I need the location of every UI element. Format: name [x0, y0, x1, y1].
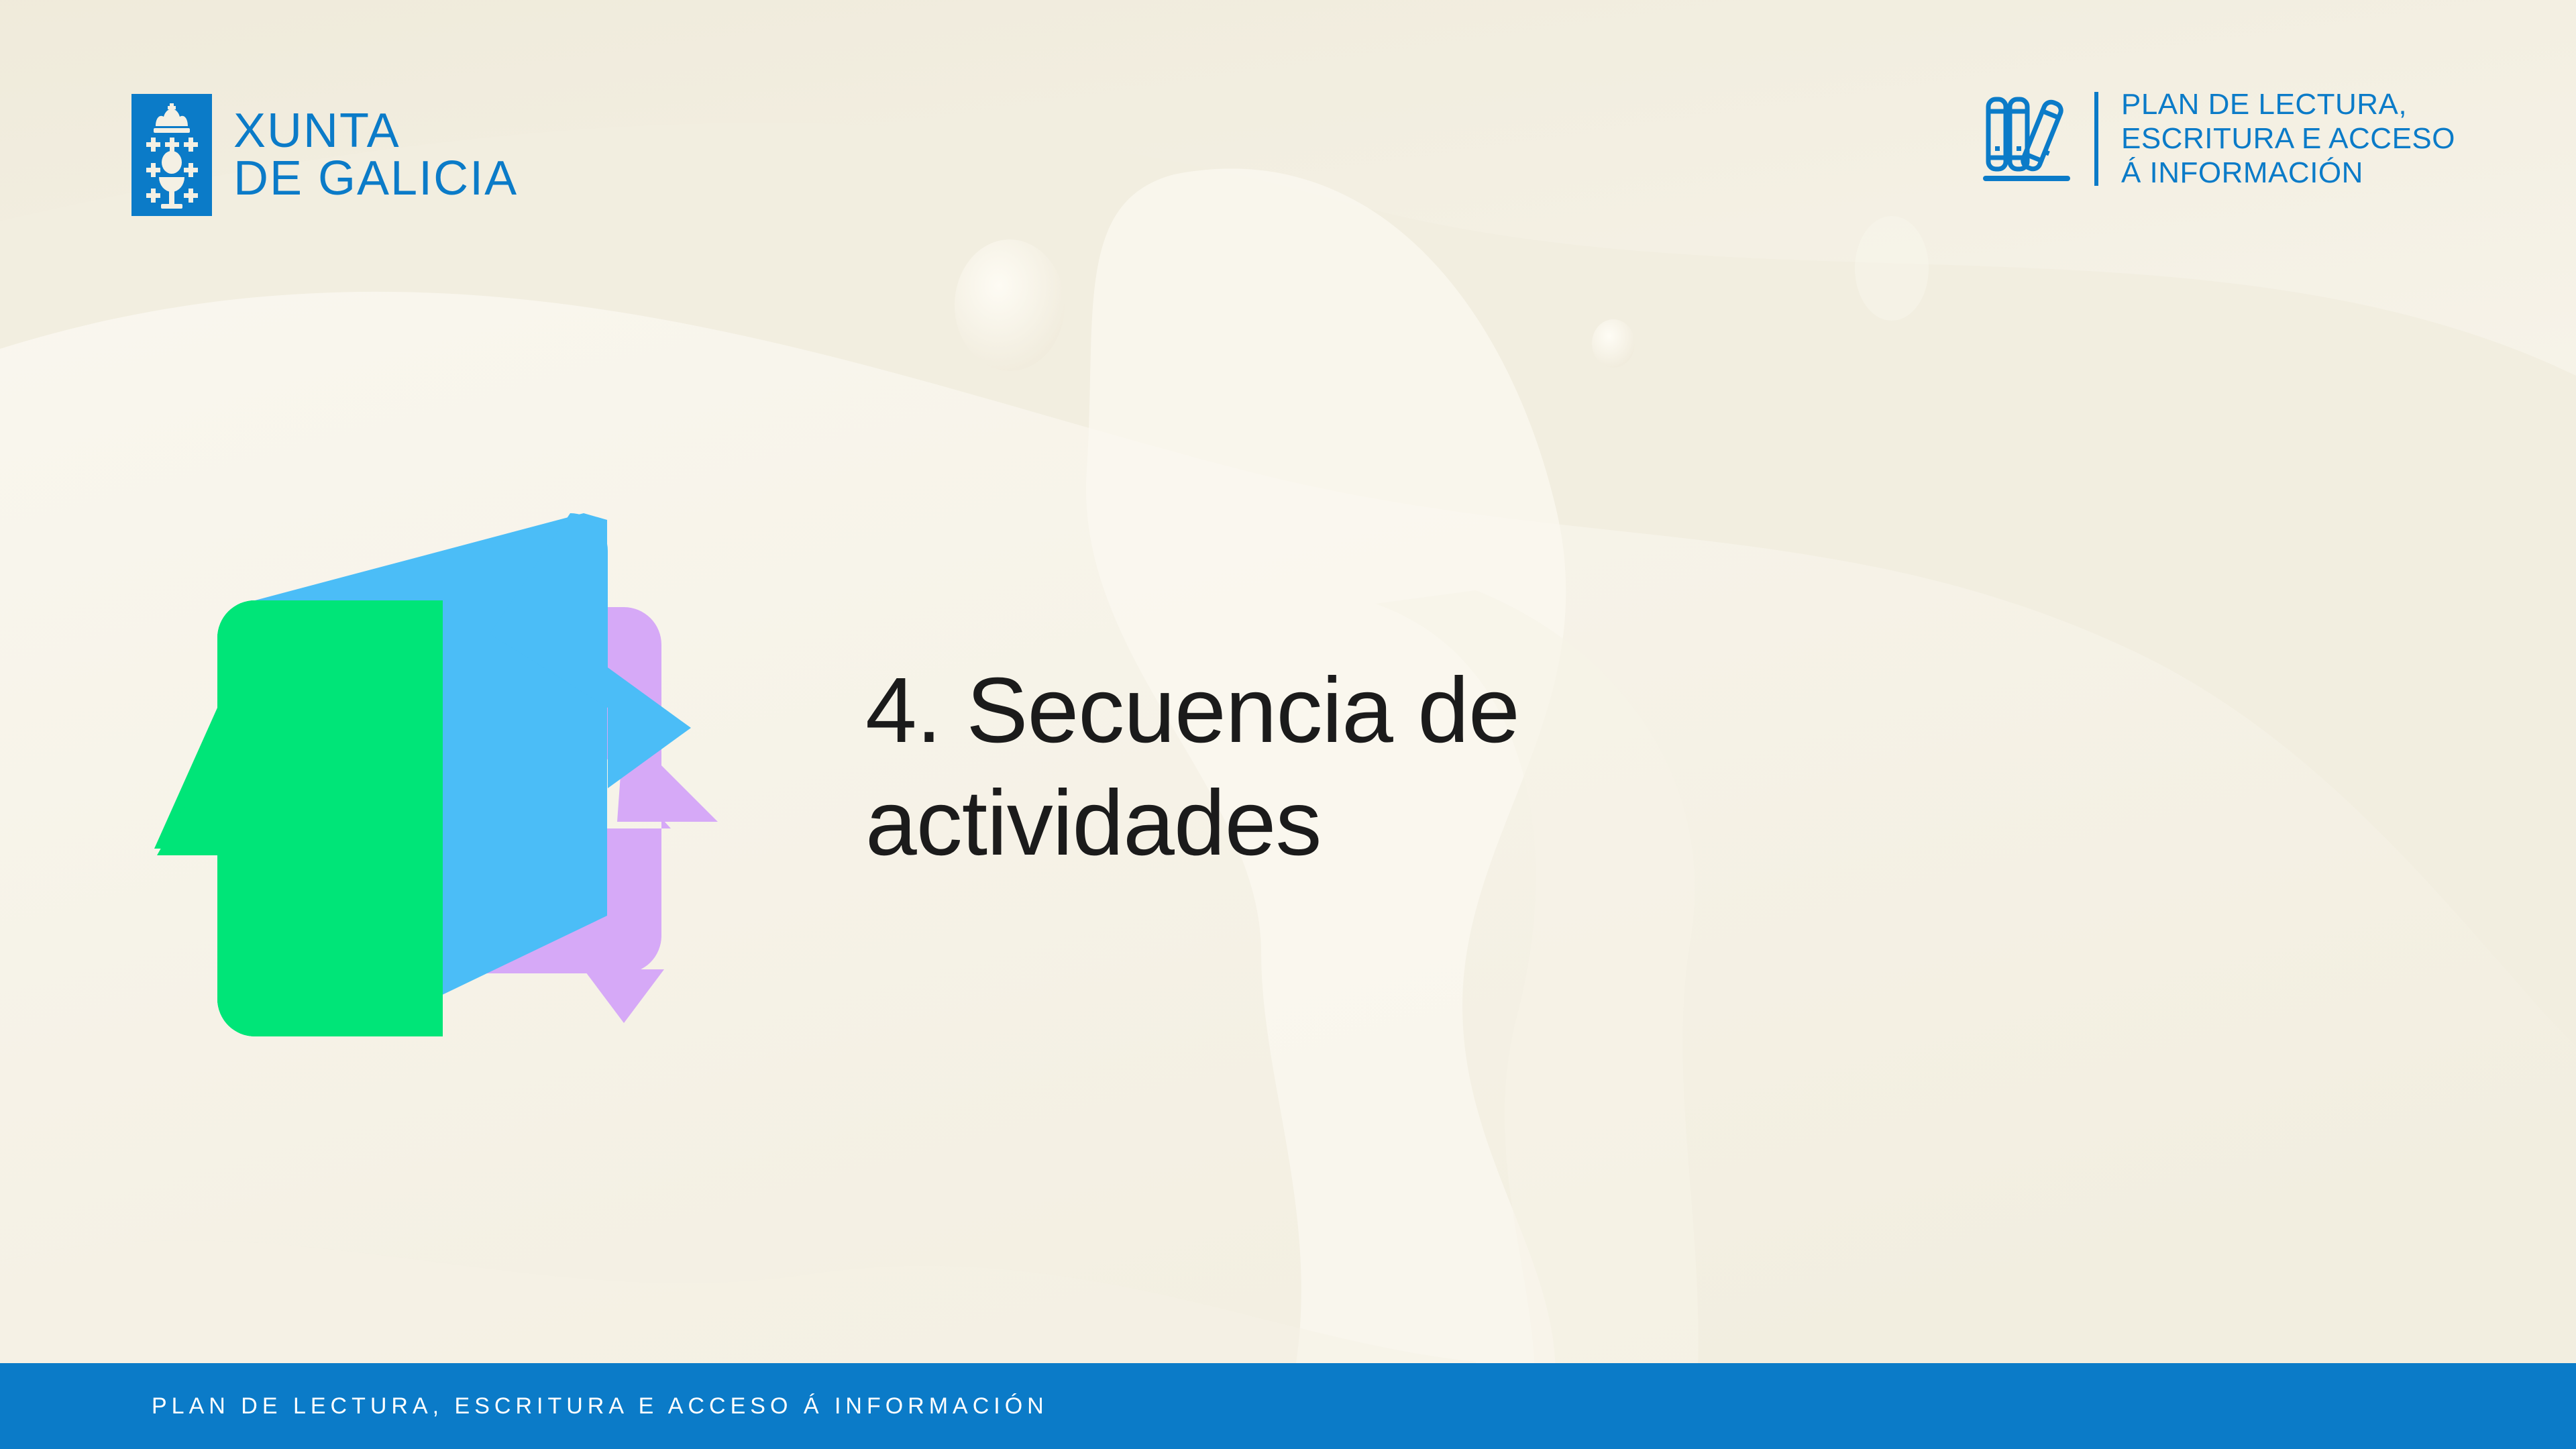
- page-title-line2: actividades: [865, 771, 1321, 875]
- page-title: 4. Secuencia de actividades: [865, 654, 2006, 880]
- xunta-de-galicia-logo: XUNTA DE GALICIA: [131, 94, 518, 216]
- plan-logo-text: PLAN DE LECTURA, ESCRITURA E ACCESO Á IN…: [2118, 87, 2455, 190]
- speech-bubbles-svg: [154, 506, 718, 1043]
- xunta-wordmark: XUNTA DE GALICIA: [233, 107, 518, 202]
- presentation-slide: XUNTA DE GALICIA: [0, 0, 2576, 1449]
- xunta-wordmark-line1: XUNTA: [233, 107, 518, 155]
- plan-logo-divider: [2094, 92, 2098, 186]
- footer-bar: PLAN DE LECTURA, ESCRITURA E ACCESO Á IN…: [0, 1363, 2576, 1449]
- plan-logo-line2: ESCRITURA E ACCESO: [2121, 121, 2455, 156]
- books-icon: [1983, 89, 2074, 189]
- speech-bubbles-graphic: [154, 506, 718, 1043]
- footer-text: PLAN DE LECTURA, ESCRITURA E ACCESO Á IN…: [152, 1393, 1049, 1419]
- plan-de-lectura-logo: PLAN DE LECTURA, ESCRITURA E ACCESO Á IN…: [1983, 87, 2455, 190]
- plan-logo-line1: PLAN DE LECTURA,: [2121, 87, 2455, 121]
- xunta-wordmark-line2: DE GALICIA: [233, 155, 518, 203]
- xunta-de-galicia-coat-of-arms-icon: [131, 94, 212, 216]
- page-title-line1: 4. Secuencia de: [865, 659, 1519, 762]
- plan-logo-line3: Á INFORMACIÓN: [2121, 156, 2455, 190]
